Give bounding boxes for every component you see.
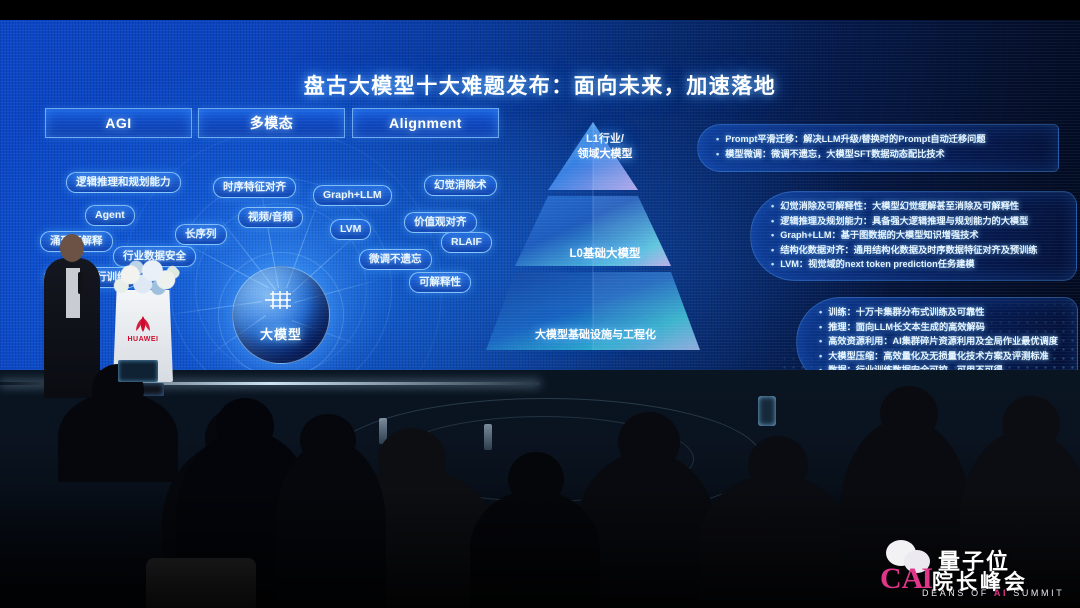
top-dark-band: [0, 0, 1080, 20]
water-bottle: [484, 424, 492, 450]
watermark-en: DEANS OF AI SUMMIT: [922, 588, 1064, 598]
l0-detail-panel: 幻觉消除及可解释性：大模型幻觉缓解甚至消除及可解释性 逻辑推理及规划能力：具备强…: [750, 191, 1077, 281]
pill-label: 时序特征对齐: [223, 181, 286, 193]
pill-multimodal-0[interactable]: 时序特征对齐: [213, 177, 296, 198]
bullet-item: 高效资源利用：AI集群碎片资源利用及全局作业最优调度: [819, 334, 1077, 349]
bullet-item: 幻觉消除及可解释性：大模型幻觉缓解甚至消除及可解释性: [771, 199, 1076, 214]
pill-label: 价值观对齐: [414, 216, 467, 228]
watermark-en-ai: AI: [994, 588, 1008, 598]
pill-label: Graph+LLM: [323, 189, 382, 201]
bullet-item: 逻辑推理及规划能力：具备强大逻辑推理与规划能力的大模型: [771, 214, 1076, 229]
pyramid-tier-l1-label: L1行业/领域大模型: [545, 132, 665, 162]
pill-label: LVM: [340, 223, 361, 235]
pill-label: 可解释性: [419, 276, 461, 288]
audience-phone: [118, 360, 158, 382]
bullet-item: Graph+LLM：基于图数据的大模型知识增强技术: [771, 228, 1076, 243]
pill-alignment-2[interactable]: 微调不遗忘: [359, 249, 432, 270]
pill-label: Agent: [95, 209, 125, 221]
audience-phone-right: [758, 396, 776, 426]
center-node-sphere[interactable]: 大模型: [232, 266, 330, 364]
flower-arrangement: [108, 258, 182, 300]
pill-alignment-6[interactable]: 可解释性: [409, 272, 471, 293]
bullet-item: 训练：十万卡集群分布式训练及可靠性: [819, 305, 1077, 320]
pill-multimodal-1[interactable]: 视频/音频: [238, 207, 303, 228]
audience-head: [748, 436, 808, 494]
pill-alignment-4[interactable]: 价值观对齐: [404, 212, 477, 233]
pill-label: RLAIF: [451, 236, 482, 248]
bullet-item: 推理：面向LLM长文本生成的高效解码: [819, 320, 1077, 335]
bullet-item: Prompt平滑迁移：解决LLM升级/替换时的Prompt自动迁移问题: [716, 132, 1058, 147]
pill-alignment-0[interactable]: Graph+LLM: [313, 185, 392, 206]
pill-alignment-5[interactable]: RLAIF: [441, 232, 492, 253]
slide-title: 盘古大模型十大难题发布：面向未来，加速落地: [0, 70, 1080, 100]
bullet-item: 结构化数据对齐：通用结构化数据及时序数据特征对齐及预训练: [771, 243, 1076, 258]
pill-label: 视频/音频: [248, 211, 293, 223]
audience-member: [470, 490, 600, 608]
center-node-label: 大模型: [233, 324, 329, 343]
l1-bullet-list: Prompt平滑迁移：解决LLM升级/替换时的Prompt自动迁移问题 模型微调…: [698, 125, 1058, 161]
neural-network-icon: [264, 289, 298, 315]
speaker-head: [60, 234, 84, 262]
pill-label: 幻觉消除术: [434, 179, 487, 191]
pill-multimodal-2[interactable]: 长序列: [175, 224, 227, 245]
pill-agi-1[interactable]: Agent: [85, 205, 135, 226]
audience-head: [880, 386, 938, 442]
chair-back: [146, 558, 256, 608]
infra-bullet-list: 训练：十万卡集群分布式训练及可靠性 推理：面向LLM长文本生成的高效解码 高效资…: [797, 298, 1077, 370]
audience-member: [700, 474, 850, 608]
pill-label: 长序列: [185, 228, 217, 240]
pill-agi-0[interactable]: 逻辑推理和规划能力: [66, 172, 181, 193]
audience-head: [508, 452, 564, 506]
conference-photo: 盘古大模型十大难题发布：面向未来，加速落地 AGI 多模态 Alignment …: [0, 0, 1080, 608]
speaker-microphone: [78, 272, 83, 294]
column-header-agi-label: AGI: [105, 115, 131, 131]
bullet-item: 模型微调：微调不遗忘，大模型SFT数据动态配比技术: [716, 147, 1058, 162]
bullet-item: 大模型压缩：高效量化及无损量化技术方案及评测标准: [819, 349, 1077, 364]
watermark-logo: CAI 量子位 院长峰会 DEANS OF AI SUMMIT: [876, 536, 1072, 602]
column-header-agi: AGI: [45, 108, 192, 138]
column-header-multimodal: 多模态: [198, 108, 345, 138]
bullet-item: 数据：行业训练数据安全可控，可用不可得: [819, 363, 1077, 370]
column-header-alignment: Alignment: [352, 108, 499, 138]
huawei-flower-icon: [130, 314, 156, 334]
audience-head: [378, 428, 446, 492]
audience-head: [216, 398, 274, 454]
pill-alignment-1[interactable]: LVM: [330, 219, 371, 240]
audience-head: [300, 414, 356, 466]
watermark-en-suffix: SUMMIT: [1008, 588, 1064, 598]
bullet-item: LVM：视觉域的next token prediction任务建模: [771, 257, 1076, 272]
l1-detail-panel: Prompt平滑迁移：解决LLM升级/替换时的Prompt自动迁移问题 模型微调…: [697, 124, 1059, 172]
pill-label: 微调不遗忘: [369, 253, 422, 265]
pyramid-tier-infra-label: 大模型基础设施与工程化: [488, 326, 703, 342]
l0-bullet-list: 幻觉消除及可解释性：大模型幻觉缓解甚至消除及可解释性 逻辑推理及规划能力：具备强…: [751, 192, 1076, 272]
audience-head: [618, 412, 680, 472]
column-header-alignment-label: Alignment: [389, 115, 462, 131]
pill-label: 逻辑推理和规划能力: [76, 176, 171, 188]
audience-head: [1002, 396, 1060, 452]
watermark-en-prefix: DEANS OF: [922, 588, 994, 598]
huawei-logo-text: HUAWEI: [113, 336, 173, 343]
infra-detail-panel: 训练：十万卡集群分布式训练及可靠性 推理：面向LLM长文本生成的高效解码 高效资…: [796, 297, 1078, 370]
column-header-multimodal-label: 多模态: [250, 115, 294, 131]
pyramid-tier-l0-label: L0基础大模型: [530, 245, 680, 261]
